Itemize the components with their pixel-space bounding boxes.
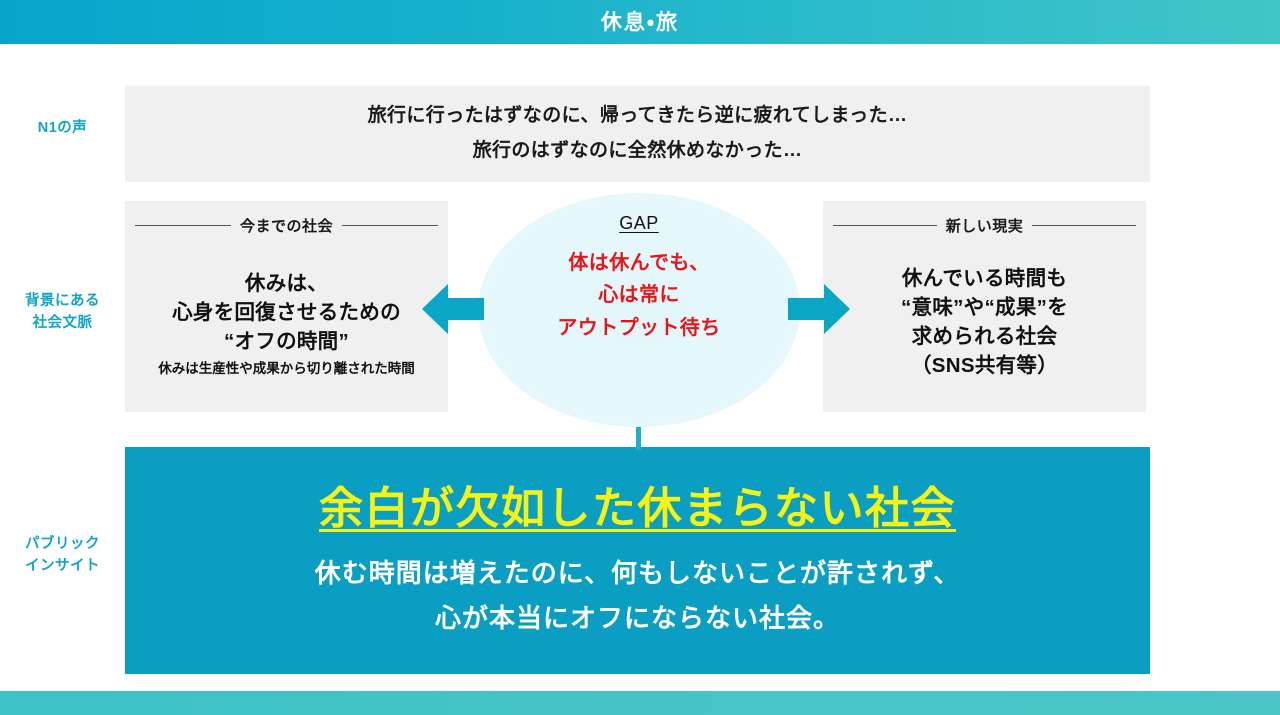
page-title: 休息・旅: [601, 12, 679, 33]
slide-root: 休息・旅 N1の声 背景にある 社会文脈 パブリック インサイト 旅行に行ったは…: [0, 0, 1280, 715]
row-label-insight-line2: インサイト: [0, 555, 125, 577]
n1-voice-line-1: 旅行に行ったはずなのに、帰ってきたら逆に疲れてしまった…: [368, 105, 908, 128]
context-right-line-1: 休んでいる時間も: [902, 264, 1067, 293]
context-left-line-2: 心身を回復させるための: [172, 298, 401, 327]
context-left-heading: 今までの社会: [135, 215, 438, 236]
context-right-body: 休んでいる時間も “意味”や“成果”を 求められる社会 （SNS共有等）: [833, 242, 1136, 404]
context-right-heading: 新しい現実: [833, 215, 1136, 236]
gap-line-3: アウトプット待ち: [557, 312, 720, 344]
context-box-past-society: 今までの社会 休みは、 心身を回復させるための “オフの時間” 休みは生産性や成…: [125, 201, 448, 412]
row-label-insight-line1: パブリック: [0, 533, 125, 555]
context-right-heading-text: 新しい現実: [946, 215, 1024, 236]
context-right-line-4: （SNS共有等）: [911, 351, 1058, 380]
row-label-context-line2: 社会文脈: [0, 312, 125, 334]
row-label-n1-voice: N1の声: [0, 117, 125, 139]
context-right-line-2: “意味”や“成果”を: [901, 293, 1068, 322]
public-insight-box: 余白が欠如した休まらない社会 休む時間は増えたのに、何もしないことが許されず、 …: [125, 447, 1150, 674]
n1-voice-box: 旅行に行ったはずなのに、帰ってきたら逆に疲れてしまった… 旅行のはずなのに全然休…: [125, 86, 1150, 182]
gap-ellipse: GAP 体は休んでも、 心は常に アウトプット待ち: [478, 193, 800, 427]
context-right-line-3: 求められる社会: [912, 322, 1058, 351]
n1-voice-line-2: 旅行のはずなのに全然休めなかった…: [473, 140, 803, 163]
arrow-right-icon: [788, 279, 850, 339]
heading-rule-left: [833, 225, 937, 226]
context-left-heading-text: 今までの社会: [240, 215, 333, 236]
context-left-body: 休みは、 心身を回復させるための “オフの時間” 休みは生産性や成果から切り離さ…: [135, 242, 438, 404]
row-label-public-insight: パブリック インサイト: [0, 533, 125, 578]
gap-line-1: 体は休んでも、: [568, 247, 709, 279]
context-box-new-reality: 新しい現実 休んでいる時間も “意味”や“成果”を 求められる社会 （SNS共有…: [823, 201, 1146, 412]
insight-headline: 余白が欠如した休まらない社会: [319, 483, 956, 535]
gap-title: GAP: [619, 213, 659, 234]
context-left-note: 休みは生産性や成果から切り離された時間: [158, 361, 415, 377]
insight-line-2: 心が本当にオフにならない社会。: [435, 596, 840, 642]
context-left-line-3: “オフの時間”: [224, 327, 349, 356]
header-bar: 休息・旅: [0, 0, 1280, 44]
row-label-n1-text: N1の声: [0, 117, 125, 139]
arrow-left-icon: [422, 279, 484, 339]
heading-rule-left: [135, 225, 231, 226]
heading-rule-right: [1032, 225, 1136, 226]
insight-line-1: 休む時間は増えたのに、何もしないことが許されず、: [315, 551, 960, 597]
heading-rule-right: [342, 225, 438, 226]
footer-bar: [0, 691, 1280, 715]
context-left-line-1: 休みは、: [245, 269, 328, 298]
gap-line-2: 心は常に: [598, 279, 680, 311]
row-label-context-line1: 背景にある: [0, 290, 125, 312]
row-label-social-context: 背景にある 社会文脈: [0, 290, 125, 335]
